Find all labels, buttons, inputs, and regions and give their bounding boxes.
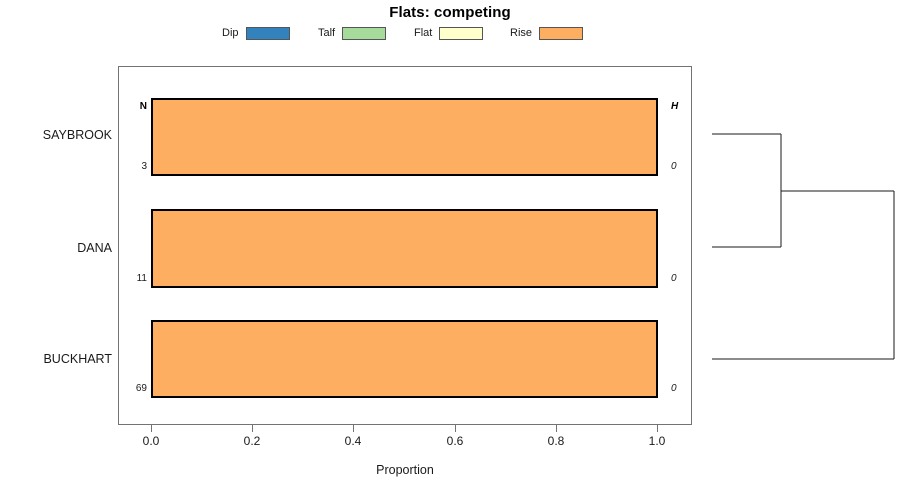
legend-label-talf: Talf <box>318 27 335 39</box>
h-value-buckhart: 0 <box>671 383 695 394</box>
chart-legend: Dip Talf Flat Rise <box>222 24 682 42</box>
n-value-saybrook: 3 <box>123 161 147 172</box>
chart-canvas: Flats: competing Dip Talf Flat Rise SAYB… <box>0 0 900 500</box>
legend-item-rise[interactable]: Rise <box>510 24 583 42</box>
x-tick-mark-0 <box>151 425 152 432</box>
n-value-buckhart: 69 <box>123 383 147 394</box>
plot-area: N H 3 0 11 0 69 0 <box>118 66 692 425</box>
x-tick-mark-1 <box>252 425 253 432</box>
column-header-h: H <box>671 101 695 112</box>
n-value-dana: 11 <box>123 273 147 284</box>
legend-item-dip[interactable]: Dip <box>222 24 290 42</box>
legend-label-dip: Dip <box>222 27 239 39</box>
legend-swatch-flat <box>439 27 483 40</box>
cluster-dendrogram <box>700 60 900 430</box>
legend-label-rise: Rise <box>510 27 532 39</box>
row-label-buckhart: BUCKHART <box>4 352 112 366</box>
row-label-dana: DANA <box>4 241 112 255</box>
category-axis-labels: SAYBROOK DANA BUCKHART <box>0 0 112 500</box>
legend-item-flat[interactable]: Flat <box>414 24 483 42</box>
legend-swatch-dip <box>246 27 290 40</box>
x-tick-label-2: 0.4 <box>333 434 373 448</box>
row-label-saybrook: SAYBROOK <box>4 128 112 142</box>
legend-label-flat: Flat <box>414 27 432 39</box>
bar-dana-rise[interactable] <box>151 209 658 288</box>
x-axis-title: Proportion <box>118 463 692 477</box>
x-tick-mark-4 <box>556 425 557 432</box>
legend-swatch-talf <box>342 27 386 40</box>
bar-buckhart-rise[interactable] <box>151 320 658 398</box>
x-tick-label-4: 0.8 <box>536 434 576 448</box>
x-tick-mark-3 <box>455 425 456 432</box>
dendrogram-svg <box>700 60 900 430</box>
x-tick-mark-2 <box>353 425 354 432</box>
legend-swatch-rise <box>539 27 583 40</box>
column-header-n: N <box>123 101 147 112</box>
h-value-dana: 0 <box>671 273 695 284</box>
x-tick-label-3: 0.6 <box>435 434 475 448</box>
x-tick-label-0: 0.0 <box>131 434 171 448</box>
x-tick-label-5: 1.0 <box>637 434 677 448</box>
legend-item-talf[interactable]: Talf <box>318 24 386 42</box>
x-tick-label-1: 0.2 <box>232 434 272 448</box>
chart-title: Flats: competing <box>0 4 900 21</box>
x-tick-mark-5 <box>657 425 658 432</box>
bar-saybrook-rise[interactable] <box>151 98 658 176</box>
h-value-saybrook: 0 <box>671 161 695 172</box>
